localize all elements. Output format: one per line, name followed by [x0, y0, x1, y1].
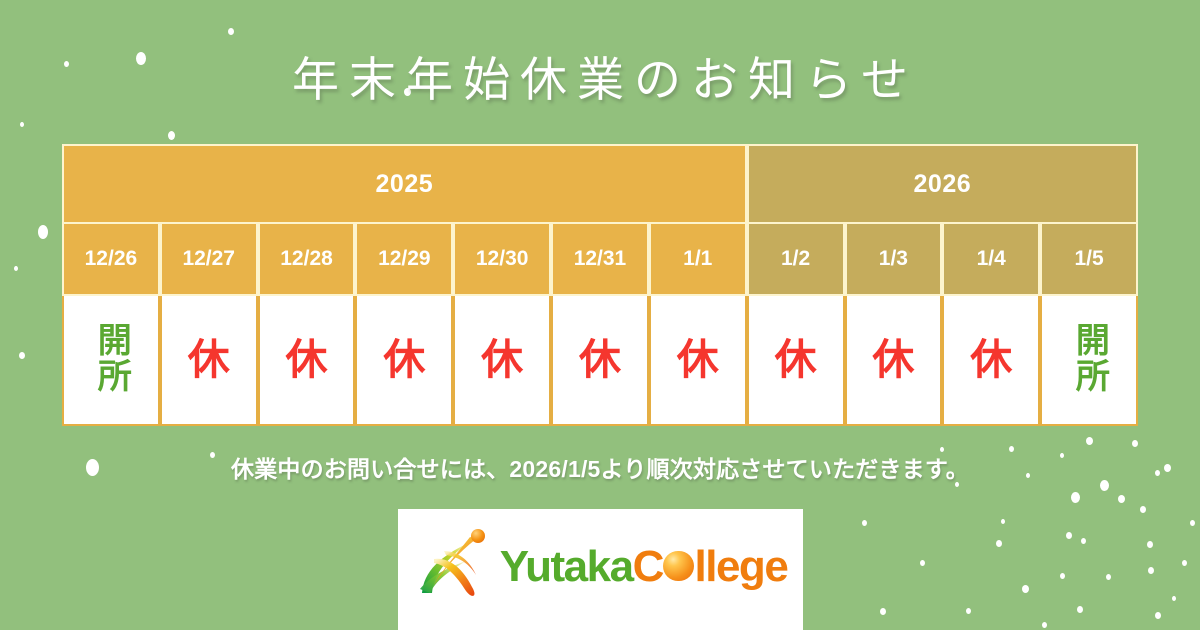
- decorative-dot: [880, 608, 886, 615]
- logo-college-c: C: [633, 542, 663, 591]
- starburst-swoosh-icon: [414, 527, 492, 606]
- decorative-dot: [1086, 437, 1093, 445]
- date-header-cell: 12/30: [453, 224, 551, 296]
- status-badge-closed: 休: [286, 339, 328, 382]
- status-cell: 休: [551, 296, 649, 426]
- logo-word-college: Cllege: [633, 542, 788, 591]
- date-header-cell: 1/3: [845, 224, 943, 296]
- status-badge-closed: 休: [481, 339, 523, 382]
- date-header-cell: 1/1: [649, 224, 747, 296]
- decorative-dot: [1132, 440, 1138, 447]
- status-cell: 開所: [1040, 296, 1138, 426]
- date-header-cell: 1/5: [1040, 224, 1138, 296]
- decorative-dot: [1190, 520, 1195, 526]
- logo-wordmark: YutakaCllege: [500, 545, 788, 589]
- status-badge-closed: 休: [677, 339, 719, 382]
- decorative-dot: [1077, 606, 1083, 613]
- year-header-2025: 2025: [62, 144, 747, 224]
- status-badge-open: 開所: [94, 322, 129, 394]
- decorative-dot: [1042, 622, 1047, 628]
- decorative-dot: [1155, 612, 1161, 619]
- decorative-dot: [1001, 519, 1005, 524]
- logo-college-llege: llege: [695, 542, 788, 591]
- status-cell: 休: [942, 296, 1040, 426]
- status-badge-closed: 休: [383, 339, 425, 382]
- date-header-cell: 12/28: [258, 224, 356, 296]
- logo-word-yutaka: Yutaka: [500, 542, 633, 591]
- decorative-dot: [862, 520, 867, 526]
- page-title: 年末年始休業のお知らせ: [0, 52, 1200, 107]
- decorative-dot: [1066, 532, 1072, 539]
- status-cell: 休: [747, 296, 845, 426]
- decorative-dot: [966, 608, 971, 614]
- status-badge-open: 開所: [1072, 322, 1107, 394]
- status-cell: 休: [845, 296, 943, 426]
- date-header-cell: 12/31: [551, 224, 649, 296]
- table-row-dates: 12/2612/2712/2812/2912/3012/311/11/21/31…: [62, 224, 1138, 296]
- decorative-dot: [1081, 538, 1086, 544]
- decorative-dot: [1182, 560, 1187, 566]
- date-header-cell: 12/29: [355, 224, 453, 296]
- table-row-years: 20252026: [62, 144, 1138, 224]
- decorative-dot: [1106, 574, 1111, 580]
- status-badge-closed: 休: [970, 339, 1012, 382]
- logo-plate: YutakaCllege: [398, 509, 803, 630]
- status-cell: 休: [258, 296, 356, 426]
- holiday-note-text: 休業中のお問い合せには、2026/1/5より順次対応させていただきます。: [0, 450, 1200, 484]
- status-cell: 休: [160, 296, 258, 426]
- date-header-cell: 1/4: [942, 224, 1040, 296]
- decorative-dot: [1172, 596, 1176, 601]
- poster-root: 年末年始休業のお知らせ 20252026 12/2612/2712/2812/2…: [0, 0, 1200, 630]
- decorative-dot: [1071, 492, 1080, 503]
- status-badge-closed: 休: [872, 339, 914, 382]
- table-row-status: 開所休休休休休休休休休開所: [62, 296, 1138, 426]
- decorative-dot: [38, 225, 48, 239]
- status-cell: 休: [355, 296, 453, 426]
- status-badge-closed: 休: [188, 339, 230, 382]
- decorative-dot: [19, 352, 25, 359]
- decorative-dot: [920, 560, 925, 566]
- decorative-dot: [1060, 573, 1065, 579]
- decorative-dot: [14, 266, 18, 271]
- date-header-cell: 12/26: [62, 224, 160, 296]
- decorative-dot: [168, 131, 175, 140]
- decorative-dot: [996, 540, 1002, 547]
- decorative-dot: [20, 122, 24, 127]
- status-badge-closed: 休: [579, 339, 621, 382]
- decorative-dot: [1140, 506, 1146, 513]
- status-badge-closed: 休: [775, 339, 817, 382]
- status-cell: 休: [453, 296, 551, 426]
- status-cell: 開所: [62, 296, 160, 426]
- decorative-dot: [1118, 495, 1125, 503]
- logo-college-sphere-o: [663, 551, 694, 582]
- decorative-dot: [1148, 567, 1154, 574]
- decorative-dot: [1147, 541, 1153, 548]
- decorative-dot: [1022, 585, 1029, 593]
- year-header-2026: 2026: [747, 144, 1138, 224]
- status-cell: 休: [649, 296, 747, 426]
- holiday-schedule-table: 20252026 12/2612/2712/2812/2912/3012/311…: [62, 144, 1138, 426]
- date-header-cell: 12/27: [160, 224, 258, 296]
- date-header-cell: 1/2: [747, 224, 845, 296]
- decorative-dot: [228, 28, 234, 35]
